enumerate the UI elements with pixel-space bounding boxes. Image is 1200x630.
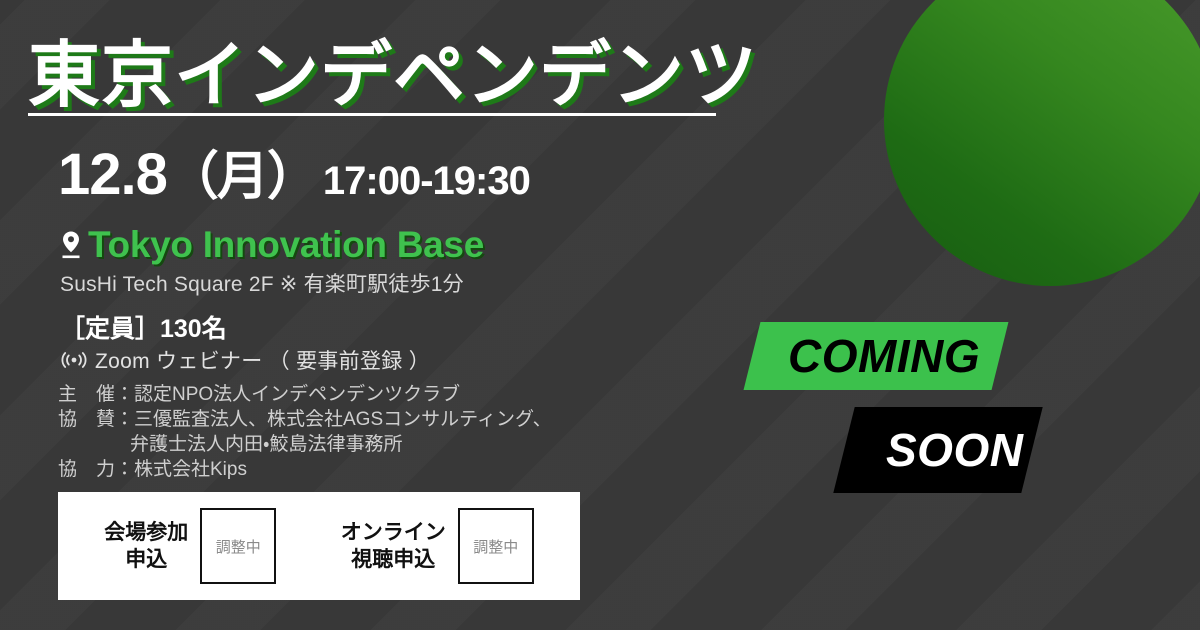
registration-label-venue-line1: 会場参加 [104, 519, 188, 546]
registration-qr-venue[interactable]: 調整中 [200, 508, 276, 584]
registration-item-venue[interactable]: 会場参加 申込 調整中 [104, 508, 276, 584]
credit-cooperation: 協 力：株式会社Kips [58, 457, 552, 482]
venue-name: Tokyo Innovation Base [88, 224, 484, 266]
registration-label-venue: 会場参加 申込 [104, 519, 188, 573]
online-text: Zoom ウェビナー （ 要事前登録 ） [95, 345, 430, 375]
event-poster: COMING SOON 東京インデペンデンツ 12.8 （月） 17:00-19… [0, 0, 1200, 630]
registration-label-online: オンライン 視聴申込 [341, 519, 446, 573]
registration-label-online-line2: 視聴申込 [341, 546, 446, 573]
registration-label-online-line1: オンライン [341, 519, 446, 546]
title-divider [28, 113, 716, 116]
registration-qr-online[interactable]: 調整中 [458, 508, 534, 584]
coming-badge: COMING [744, 322, 1009, 390]
soon-badge-label: SOON [886, 423, 1023, 477]
registration-panel: 会場参加 申込 調整中 オンライン 視聴申込 調整中 [58, 492, 580, 600]
event-time: 17:00-19:30 [323, 159, 530, 204]
event-datetime: 12.8 （月） 17:00-19:30 [58, 134, 530, 209]
venue-address: SusHi Tech Square 2F ※ 有楽町駅徒歩1分 [60, 268, 464, 298]
credit-sponsor-line1: 協 賛：三優監査法人、株式会社AGSコンサルティング、 [58, 407, 552, 432]
event-title: 東京インデペンデンツ [28, 16, 758, 121]
credit-organizer: 主 催：認定NPO法人インデペンデンツクラブ [58, 382, 552, 407]
green-circle-decoration [884, 0, 1200, 286]
online-row: Zoom ウェビナー （ 要事前登録 ） [60, 345, 430, 375]
registration-qr-online-status: 調整中 [473, 536, 518, 557]
capacity-text: ［定員］130名 [60, 309, 227, 345]
credits-block: 主 催：認定NPO法人インデペンデンツクラブ 協 賛：三優監査法人、株式会社AG… [58, 382, 552, 482]
soon-badge: SOON [833, 407, 1042, 493]
event-day-of-week: （月） [167, 134, 317, 209]
credit-sponsor-line2: 弁護士法人内田・鮫島法律事務所 [58, 432, 552, 457]
event-date: 12.8 [58, 141, 167, 208]
registration-item-online[interactable]: オンライン 視聴申込 調整中 [341, 508, 534, 584]
registration-qr-venue-status: 調整中 [216, 536, 261, 557]
registration-label-venue-line2: 申込 [104, 546, 188, 573]
location-pin-icon [60, 230, 82, 260]
coming-badge-label: COMING [788, 329, 980, 383]
venue-row: Tokyo Innovation Base [60, 224, 484, 266]
broadcast-icon [60, 350, 88, 370]
